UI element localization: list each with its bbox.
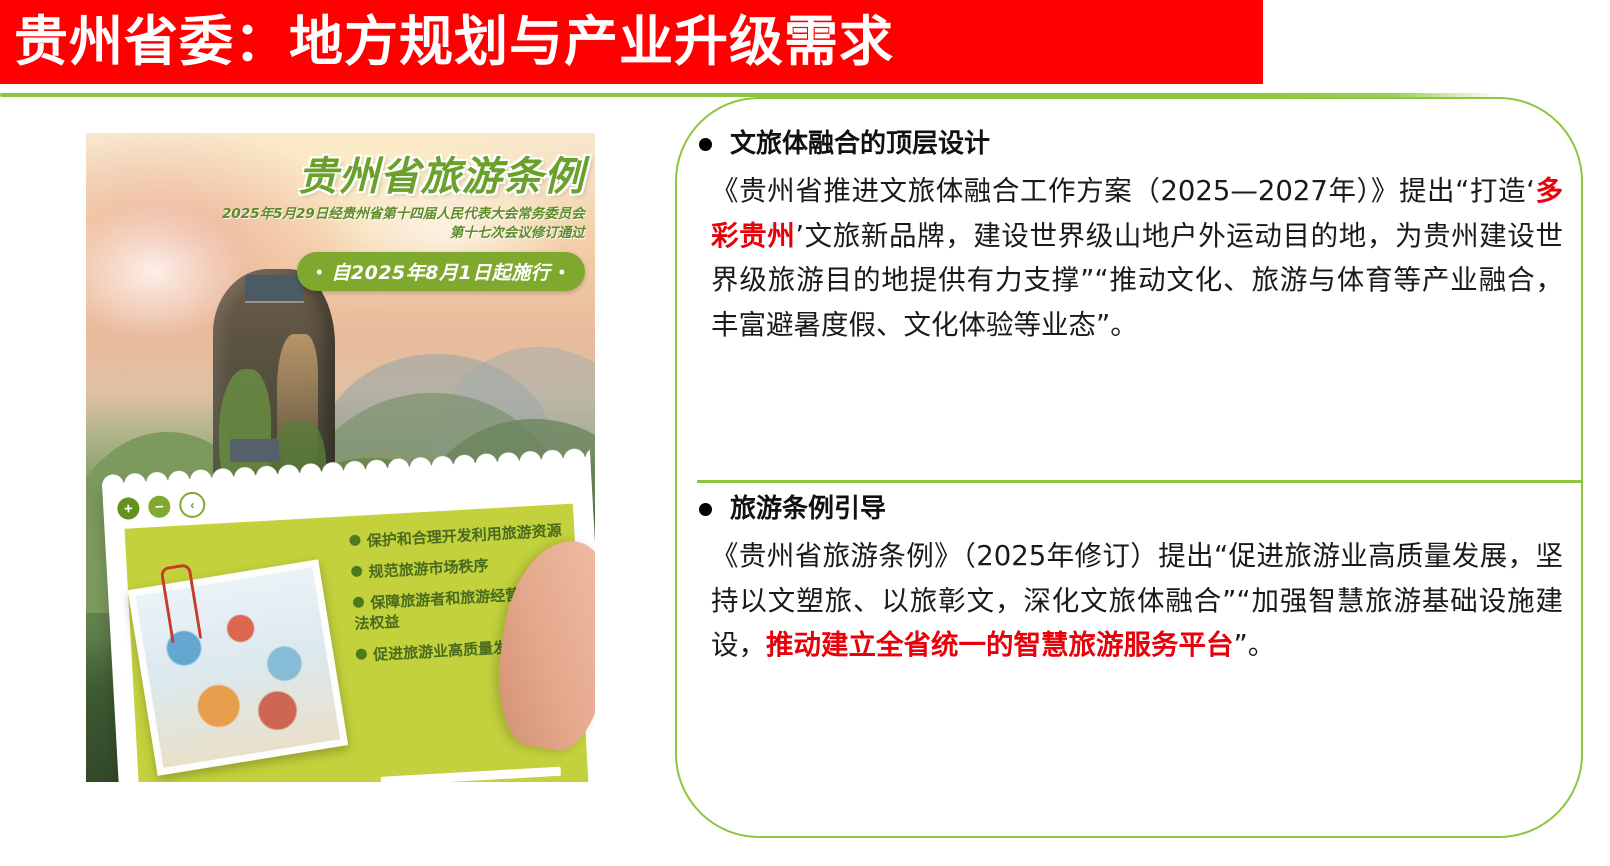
section-divider bbox=[697, 480, 1583, 483]
content-panel: 文旅体融合的顶层设计 《贵州省推进文旅体融合工作方案（2025—2027年）》提… bbox=[675, 97, 1583, 838]
poster-info-card: + − ‹ 保护和合理开发利用旅游资源 规范旅游市场秩序 保障旅游者和旅游经营者… bbox=[102, 457, 595, 782]
card-bottom-bar bbox=[381, 767, 561, 782]
back-chevron-icon: ‹ bbox=[179, 492, 206, 519]
section-heading: 旅游条例引导 bbox=[730, 494, 886, 525]
slide-canvas: 贵州省委：地方规划与产业升级需求 贵州省旅游条例 2025年5月29日经贵州省第… bbox=[0, 0, 1610, 866]
section-top-level-design: 文旅体融合的顶层设计 《贵州省推进文旅体融合工作方案（2025—2027年）》提… bbox=[699, 129, 1565, 347]
poster-subtitle: 2025年5月29日经贵州省第十四届人民代表大会常务委员会 第十七次会议修订通过 bbox=[218, 205, 584, 243]
tourism-regulation-poster: 贵州省旅游条例 2025年5月29日经贵州省第十四届人民代表大会常务委员会 第十… bbox=[86, 133, 595, 782]
poster-subtitle-line-1: 2025年5月29日经贵州省第十四届人民代表大会常务委员会 bbox=[218, 205, 584, 224]
section-regulation-guidance: 旅游条例引导 《贵州省旅游条例》（2025年修订）提出“促进旅游业高质量发展，坚… bbox=[699, 494, 1565, 668]
bullet-dot-icon bbox=[352, 566, 364, 578]
section-body: 《贵州省旅游条例》（2025年修订）提出“促进旅游业高质量发展，坚持以文塑旅、以… bbox=[699, 534, 1565, 668]
page-title: 贵州省委：地方规划与产业升级需求 bbox=[0, 15, 894, 69]
section-bullet-icon bbox=[699, 138, 712, 151]
badge-label: 自2025年8月1日起施行 bbox=[331, 262, 550, 284]
illustration-stamp bbox=[128, 560, 349, 777]
poster-headline-block: 贵州省旅游条例 2025年5月29日经贵州省第十四届人民代表大会常务委员会 第十… bbox=[218, 156, 584, 291]
body-text-part: ’文旅新品牌，建设世界级山地户外运动目的地，为贵州建设世界级旅游目的地提供有力支… bbox=[711, 220, 1563, 341]
body-highlight-part: 推动建立全省统一的智慧旅游服务平台 bbox=[766, 629, 1234, 661]
list-item-label: 保护和合理开发利用旅游资源 bbox=[367, 523, 563, 551]
body-text-part: 《贵州省推进文旅体融合工作方案（2025—2027年）》提出“打造‘ bbox=[711, 175, 1535, 207]
section-heading-row: 文旅体融合的顶层设计 bbox=[699, 129, 1565, 160]
zoom-out-icon: − bbox=[148, 496, 171, 519]
poster-subtitle-line-2: 第十七次会议修订通过 bbox=[218, 224, 584, 243]
badge-dot-right: • bbox=[557, 266, 566, 282]
badge-dot-left: • bbox=[315, 266, 324, 282]
poster-title: 贵州省旅游条例 bbox=[218, 156, 584, 198]
section-body: 《贵州省推进文旅体融合工作方案（2025—2027年）》提出“打造‘多彩贵州’文… bbox=[699, 169, 1565, 347]
section-heading: 文旅体融合的顶层设计 bbox=[730, 129, 990, 160]
title-banner: 贵州省委：地方规划与产业升级需求 bbox=[0, 0, 1263, 84]
zoom-in-icon: + bbox=[117, 497, 140, 520]
list-item: 保护和合理开发利用旅游资源 bbox=[350, 522, 567, 554]
section-heading-row: 旅游条例引导 bbox=[699, 494, 1565, 525]
section-bullet-icon bbox=[699, 503, 712, 516]
body-text-part: ”。 bbox=[1234, 629, 1276, 661]
poster-effective-badge: • 自2025年8月1日起施行 • bbox=[297, 252, 585, 291]
bullet-dot-icon bbox=[353, 597, 365, 609]
bullet-dot-icon bbox=[350, 535, 362, 547]
bullet-dot-icon bbox=[356, 648, 368, 660]
lower-temple bbox=[230, 439, 279, 462]
list-item-label: 规范旅游市场秩序 bbox=[369, 558, 490, 582]
